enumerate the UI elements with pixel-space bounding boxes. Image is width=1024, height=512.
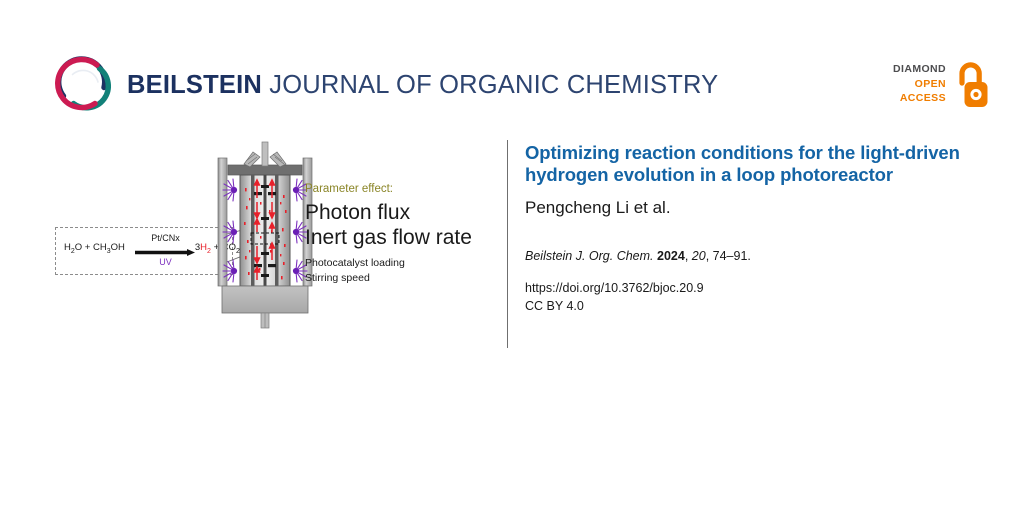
parameter-minor-1: Photocatalyst loading: [305, 256, 505, 271]
citation-year: 2024: [657, 249, 685, 263]
open-lock-icon: [952, 60, 990, 110]
parameter-effect-heading: Parameter effect:: [305, 182, 505, 197]
loop-photoreactor-diagram: [210, 140, 320, 330]
oa-label-access: ACCESS: [893, 91, 946, 106]
vertical-divider: [507, 140, 508, 348]
parameter-minor-list: Photocatalyst loading Stirring speed: [305, 256, 505, 286]
diamond-open-access-badge: DIAMOND OPEN ACCESS: [866, 62, 990, 112]
reaction-arrow-group: Pt/CNx UV: [134, 233, 197, 271]
article-authors: Pengcheng Li et al.: [525, 197, 970, 218]
catalyst-label: Pt/CNx: [134, 233, 197, 243]
article-license: CC BY 4.0: [525, 297, 970, 315]
parameter-major-2: Inert gas flow rate: [305, 225, 505, 250]
oa-label-diamond: DIAMOND: [893, 62, 946, 77]
parameter-minor-2: Stirring speed: [305, 271, 505, 286]
equation-reactants: H2O + CH3OH: [64, 242, 125, 253]
article-doi-link[interactable]: https://doi.org/10.3762/bjoc.20.9: [525, 279, 970, 297]
citation-pages: 74–91.: [713, 249, 751, 263]
article-title[interactable]: Optimizing reaction conditions for the l…: [525, 142, 970, 185]
oa-label-open: OPEN: [893, 77, 946, 92]
article-citation: Beilstein J. Org. Chem. 2024, 20, 74–91.: [525, 248, 970, 265]
reaction-equation-box: H2O + CH3OH3H2 + CO2 Pt/CNx UV: [55, 227, 233, 275]
reaction-arrow-icon: [135, 249, 195, 256]
citation-journal: Beilstein J. Org. Chem.: [525, 249, 654, 263]
graphical-abstract: H2O + CH3OH3H2 + CO2 Pt/CNx UV: [40, 140, 505, 340]
uv-condition-label: UV: [134, 257, 197, 267]
masthead: BEILSTEIN JOURNAL OF ORGANIC CHEMISTRY D…: [0, 0, 1024, 130]
citation-volume: 20: [692, 249, 706, 263]
beilstein-logo-icon: [55, 56, 113, 114]
open-access-labels: DIAMOND OPEN ACCESS: [893, 62, 946, 106]
masthead-title: BEILSTEIN JOURNAL OF ORGANIC CHEMISTRY: [127, 70, 718, 100]
parameter-effect-block: Parameter effect: Photon flux Inert gas …: [305, 182, 505, 286]
parameter-major-1: Photon flux: [305, 200, 505, 225]
masthead-brand-light: JOURNAL OF ORGANIC CHEMISTRY: [262, 71, 718, 99]
masthead-brand-bold: BEILSTEIN: [127, 71, 262, 99]
article-info: Optimizing reaction conditions for the l…: [525, 142, 970, 315]
